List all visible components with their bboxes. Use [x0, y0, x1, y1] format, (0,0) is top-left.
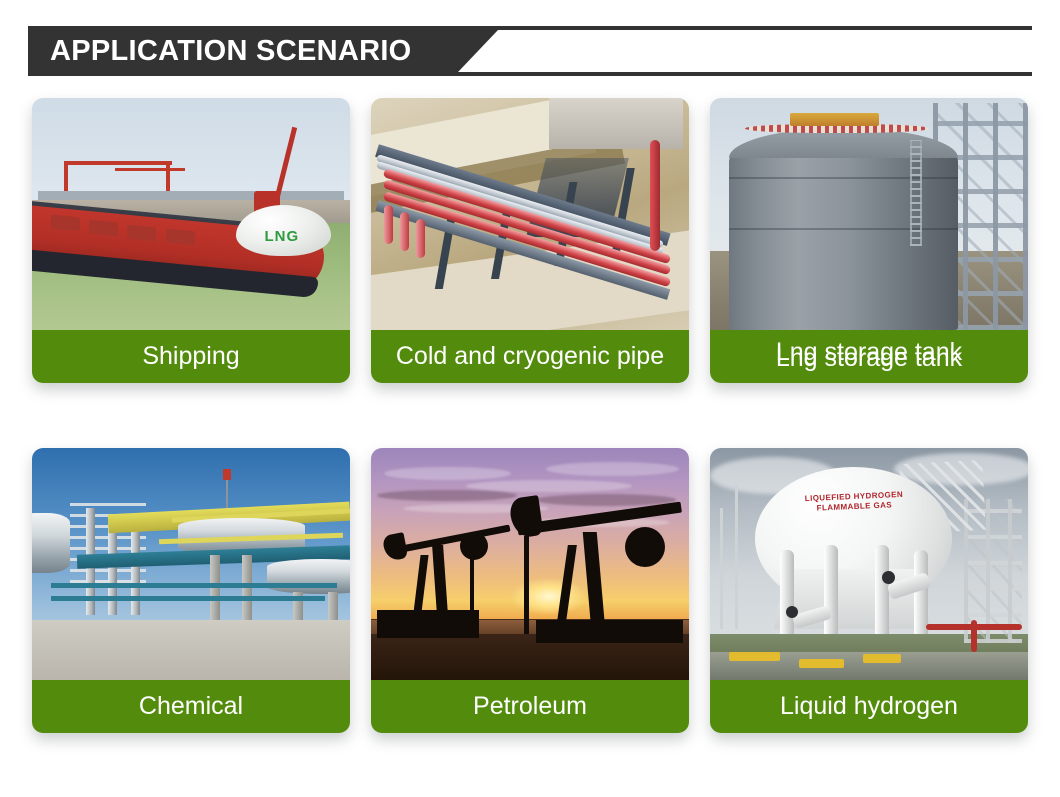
scenario-card-shipping[interactable]: LNG Shipping [32, 98, 350, 383]
card-label-chemical: Chemical [32, 680, 350, 733]
card-label-text: Petroleum [473, 694, 587, 719]
card-label-petroleum: Petroleum [371, 680, 689, 733]
card-label-text: Shipping [142, 344, 239, 369]
scenario-card-cold-cryogenic-pipe[interactable]: Cold and cryogenic pipe [371, 98, 689, 383]
scenario-card-petroleum[interactable]: Petroleum [371, 448, 689, 733]
header-rule-bottom [28, 72, 1032, 76]
chemical-photo [32, 448, 350, 680]
card-label-shipping: Shipping [32, 330, 350, 383]
header-rule-top [28, 26, 1032, 30]
section-header: APPLICATION SCENARIO [28, 26, 1032, 76]
card-label-lng-storage-tank: Lng storage tank Lng storage tank [710, 330, 1028, 383]
header-banner: APPLICATION SCENARIO [28, 30, 498, 72]
cryogenic-pipe-photo [371, 98, 689, 330]
scenario-card-chemical[interactable]: Chemical [32, 448, 350, 733]
scenario-card-liquid-hydrogen[interactable]: LIQUEFIED HYDROGEN FLAMMABLE GAS [710, 448, 1028, 733]
scenario-card-grid: LNG Shipping [32, 98, 1028, 733]
ship-tank-lng-label: LNG [264, 228, 299, 245]
card-label-text-ghost: Lng storage tank [776, 346, 962, 371]
page-title: APPLICATION SCENARIO [28, 35, 412, 68]
card-label-liquid-hydrogen: Liquid hydrogen [710, 680, 1028, 733]
scenario-card-lng-storage-tank[interactable]: Lng storage tank Lng storage tank [710, 98, 1028, 383]
card-label-text: Chemical [139, 694, 243, 719]
card-label-text: Cold and cryogenic pipe [396, 344, 664, 369]
lng-storage-tank-photo [710, 98, 1028, 330]
liquid-hydrogen-photo: LIQUEFIED HYDROGEN FLAMMABLE GAS [710, 448, 1028, 680]
shipping-photo: LNG [32, 98, 350, 330]
card-label-text: Liquid hydrogen [780, 694, 958, 719]
petroleum-photo [371, 448, 689, 680]
card-label-cold-cryogenic-pipe: Cold and cryogenic pipe [371, 330, 689, 383]
